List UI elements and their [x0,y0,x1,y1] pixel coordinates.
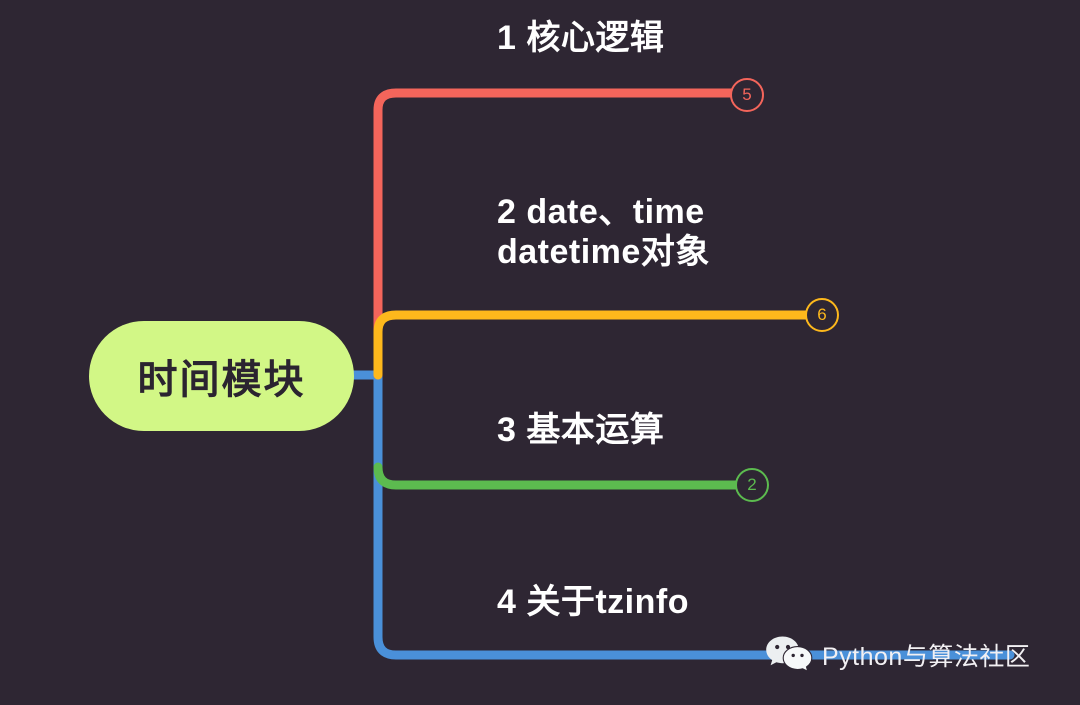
branch-label-1[interactable]: 1 核心逻辑 [497,18,664,58]
branch-line-2 [378,315,808,375]
root-node[interactable]: 时间模块 [89,321,354,431]
branch-label-4[interactable]: 4 关于tzinfo [497,582,689,622]
branch-badge-3[interactable]: 2 [735,468,769,502]
branch-label-3[interactable]: 3 基本运算 [497,410,664,450]
watermark: Python与算法社区 [765,634,1030,676]
mindmap-canvas: 时间模块 1 核心逻辑 2 date、time datetime对象 3 基本运… [0,0,1080,705]
branch-badge-1[interactable]: 5 [730,78,764,112]
wechat-icon [765,634,813,676]
branch-line-3 [378,467,738,485]
branch-label-2[interactable]: 2 date、time datetime对象 [497,192,710,272]
branch-badge-2[interactable]: 6 [805,298,839,332]
watermark-text: Python与算法社区 [822,637,1030,673]
root-node-label: 时间模块 [138,347,306,405]
